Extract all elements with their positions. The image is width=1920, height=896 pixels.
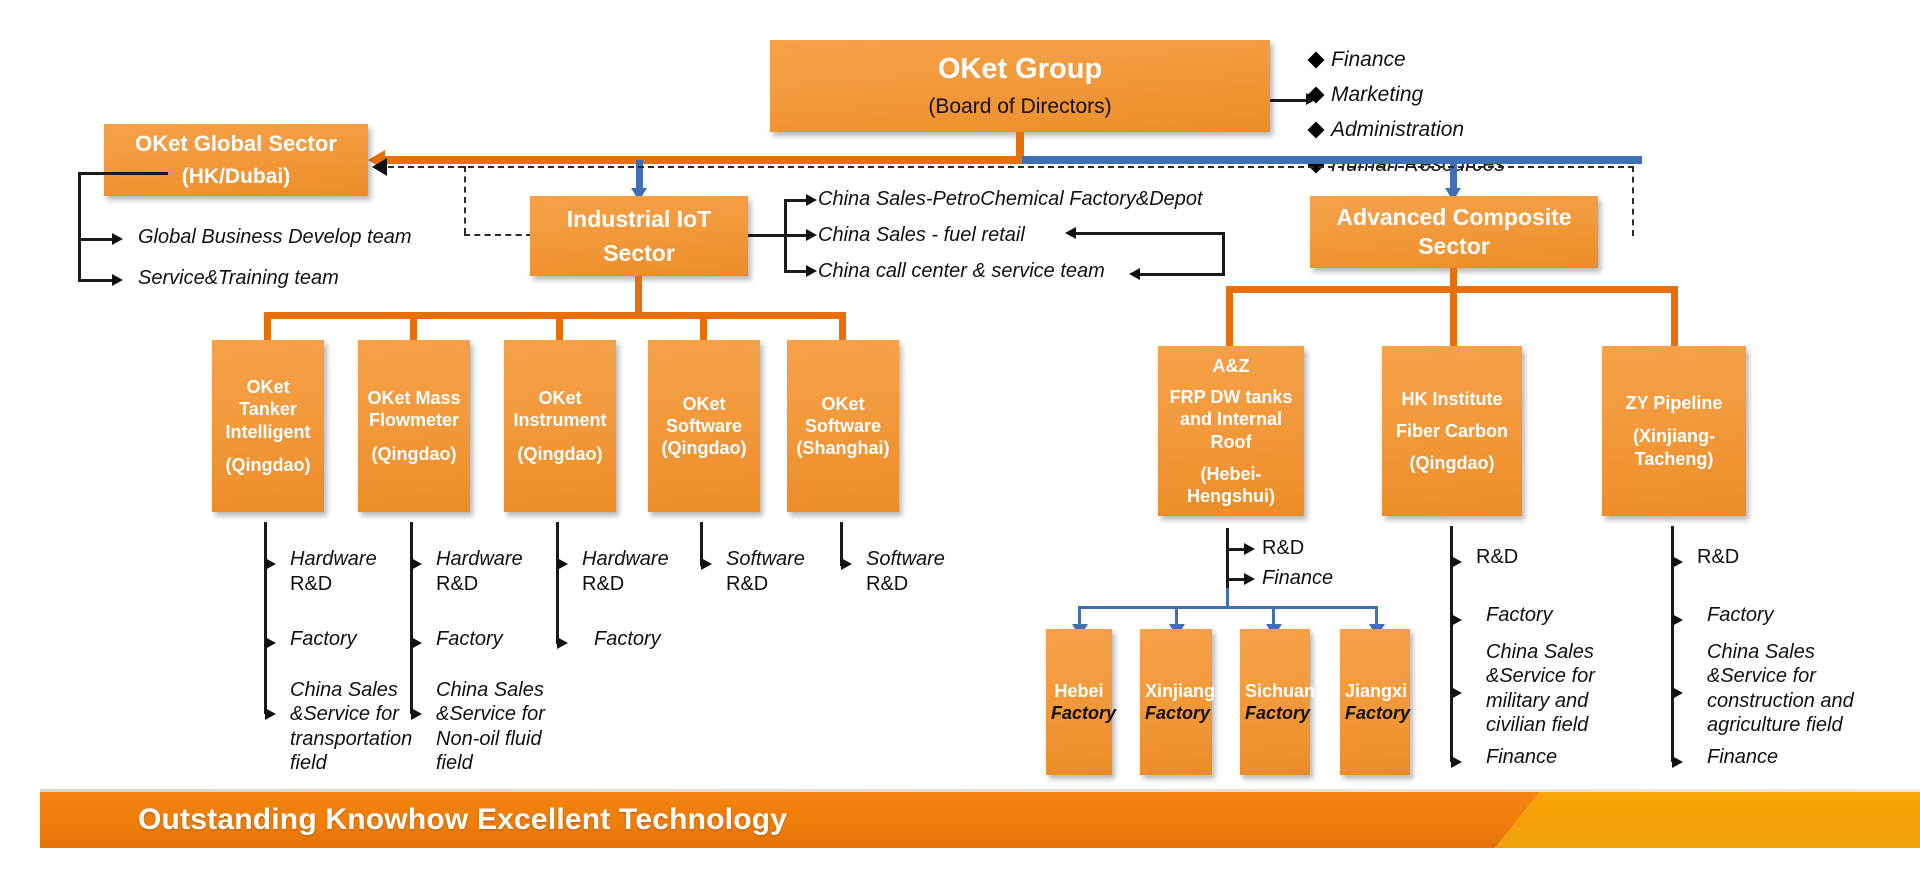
footer-banner: Outstanding Knowhow Excellent Technology xyxy=(40,792,1920,848)
node-title-line1: OKet xyxy=(792,393,894,415)
arrowhead-unit4-fn1 xyxy=(701,558,712,570)
factory-name: Jiangxi xyxy=(1345,680,1405,702)
node-oket-global-sector[interactable]: OKet Global Sector (HK/Dubai) xyxy=(104,124,368,196)
arrowhead-hk-fn1 xyxy=(1451,556,1462,568)
node-title-line2: Sector xyxy=(535,239,743,268)
node-az-frp-dw-tanks[interactable]: A&Z FRP DW tanks and Internal Roof (Hebe… xyxy=(1158,346,1304,516)
unit2-fn-factory: Factory xyxy=(436,628,503,651)
node-oket-software-qingdao[interactable]: OKet Software (Qingdao) xyxy=(648,340,760,512)
zy-fn-rd: R&D xyxy=(1697,546,1739,569)
node-location: (Qingdao) xyxy=(1387,452,1517,474)
node-oket-tanker-intelligent[interactable]: OKet Tanker Intelligent (Qingdao) xyxy=(212,340,324,512)
unit4-fn-rd: R&D xyxy=(726,573,768,596)
arrowhead-feedback-channel2 xyxy=(1065,227,1076,239)
hk-fn-rd: R&D xyxy=(1476,546,1518,569)
arrowhead-unit3-fn1 xyxy=(557,558,568,570)
node-location: (Qingdao) xyxy=(363,443,465,465)
node-location-line1: (Xinjiang- xyxy=(1607,425,1741,447)
org-chart-canvas: OKet Group (Board of Directors) Finance … xyxy=(0,0,1920,896)
connector-main-bus-blue xyxy=(1022,156,1642,164)
connector-channel-2 xyxy=(784,234,808,237)
node-xinjiang-factory[interactable]: Xinjiang Factory xyxy=(1140,629,1212,775)
zy-fn-finance: Finance xyxy=(1707,746,1778,769)
factory-name: Hebei xyxy=(1051,680,1107,702)
node-line2: and Internal xyxy=(1163,408,1299,430)
function-label: Administration xyxy=(1331,119,1464,140)
connector-channel-3 xyxy=(784,270,808,273)
connector-drop-5 xyxy=(839,312,846,340)
node-oket-mass-flowmeter[interactable]: OKet Mass Flowmeter (Qingdao) xyxy=(358,340,470,512)
arrowhead-unit1-fn1 xyxy=(265,558,276,570)
unit3-fn-hardware: Hardware xyxy=(582,548,669,571)
arrowhead-global-team2 xyxy=(112,274,123,286)
connector-bus-to-composite xyxy=(1450,160,1457,190)
unit4-fn-software: Software xyxy=(726,548,805,571)
az-fn-finance: Finance xyxy=(1262,567,1333,590)
node-hk-institute-fiber-carbon[interactable]: HK Institute Fiber Carbon (Qingdao) xyxy=(1382,346,1522,516)
node-title-line1: OKet xyxy=(509,387,611,409)
node-title: ZY Pipeline xyxy=(1607,392,1741,414)
arrowhead-channel-2 xyxy=(806,229,817,241)
list-item: Marketing xyxy=(1310,82,1505,107)
arrowhead-channel-1 xyxy=(806,194,817,206)
diamond-bullet-icon xyxy=(1308,51,1325,68)
unit5-fn-software: Software xyxy=(866,548,945,571)
unit2-fn-rd: R&D xyxy=(436,573,478,596)
zy-fn-factory: Factory xyxy=(1707,604,1774,627)
list-item: Administration xyxy=(1310,117,1505,142)
node-location: (Qingdao) xyxy=(509,443,611,465)
factory-kind: Factory xyxy=(1145,702,1207,724)
node-location: (Qingdao) xyxy=(217,454,319,476)
node-title-line1: Industrial IoT xyxy=(535,205,743,234)
arrowhead-hk-fn3 xyxy=(1451,687,1462,699)
arrowhead-az-fn2 xyxy=(1244,573,1255,585)
node-title-line1: OKet xyxy=(653,393,755,415)
node-line3: Roof xyxy=(1163,431,1299,453)
node-advanced-composite-sector[interactable]: Advanced Composite Sector xyxy=(1310,196,1598,268)
unit3-fn-factory: Factory xyxy=(594,628,661,651)
connector-composite-drop-2 xyxy=(1450,286,1457,346)
connector-drop-2 xyxy=(410,312,417,340)
connector-drop-1 xyxy=(264,312,271,340)
factory-name: Sichuan xyxy=(1245,680,1305,702)
unit5-fn-rd: R&D xyxy=(866,573,908,596)
node-location-line2: Tacheng) xyxy=(1607,448,1741,470)
factory-kind: Factory xyxy=(1245,702,1305,724)
connector-dashed-to-iot xyxy=(464,234,532,236)
connector-composite-drop-3 xyxy=(1671,286,1678,346)
node-title-line2: Instrument xyxy=(509,409,611,431)
global-team-label: Service&Training team xyxy=(138,267,339,290)
hk-fn-finance: Finance xyxy=(1486,746,1557,769)
node-location-line1: (Hebei- xyxy=(1163,463,1299,485)
unit1-fn-hardware: Hardware xyxy=(290,548,377,571)
arrowhead-unit5-fn1 xyxy=(841,558,852,570)
arrowhead-zy-fn4 xyxy=(1672,756,1683,768)
unit1-fn-factory: Factory xyxy=(290,628,357,651)
arrowhead-unit1-fn2 xyxy=(265,637,276,649)
connector-bus-to-iot xyxy=(636,160,643,190)
unit2-fn-hardware: Hardware xyxy=(436,548,523,571)
hk-fn-china-sales: China Sales &Service for military and ci… xyxy=(1486,640,1595,738)
arrowhead-zy-fn1 xyxy=(1672,556,1683,568)
banner-tagline: Outstanding Knowhow Excellent Technology xyxy=(138,792,787,848)
unit2-fn-china-sales: China Sales &Service for Non-oil fluid f… xyxy=(436,678,545,776)
connector-global-team2 xyxy=(78,279,114,282)
global-team-label: Global Business Develop team xyxy=(138,226,411,249)
iot-channel-label: China Sales - fuel retail xyxy=(818,224,1025,247)
banner-segment-accent xyxy=(1495,792,1920,848)
arrowhead-unit1-fn3 xyxy=(265,708,276,720)
function-label: Marketing xyxy=(1331,84,1423,105)
node-title-line1: HK Institute xyxy=(1387,388,1517,410)
arrowhead-feedback-channel3 xyxy=(1129,268,1140,280)
connector-root-to-functions xyxy=(1270,99,1308,102)
connector-iot-subsidiary-bus xyxy=(264,312,846,319)
unit1-fn-rd: R&D xyxy=(290,573,332,596)
connector-dashed-right-drop xyxy=(1632,166,1634,236)
connector-global-bracket-top xyxy=(78,172,168,175)
factory-kind: Factory xyxy=(1345,702,1405,724)
connector-iot-down xyxy=(635,276,642,316)
arrowhead-channel-3 xyxy=(806,265,817,277)
node-oket-software-shanghai[interactable]: OKet Software (Shanghai) xyxy=(787,340,899,512)
zy-fn-china-sales: China Sales &Service for construction an… xyxy=(1707,640,1854,738)
factory-kind: Factory xyxy=(1051,702,1107,724)
connector-unit3-spine xyxy=(556,522,559,644)
az-fn-rd: R&D xyxy=(1262,537,1304,560)
connector-factory-drop-1 xyxy=(1078,606,1081,626)
connector-drop-3 xyxy=(556,312,563,340)
unit3-fn-rd: R&D xyxy=(582,573,624,596)
connector-composite-feedback-vert xyxy=(1222,232,1225,276)
diamond-bullet-icon xyxy=(1308,86,1325,103)
connector-factory-drop-2 xyxy=(1175,606,1178,626)
node-location-line2: Hengshui) xyxy=(1163,485,1299,507)
arrowhead-zy-fn3 xyxy=(1672,687,1683,699)
node-title-line2: Sector xyxy=(1315,232,1593,261)
arrowhead-dashed-global xyxy=(372,158,387,176)
node-zy-pipeline[interactable]: ZY Pipeline (Xinjiang- Tacheng) xyxy=(1602,346,1746,516)
function-label: Finance xyxy=(1331,49,1406,70)
node-hebei-factory[interactable]: Hebei Factory xyxy=(1046,629,1112,775)
node-sichuan-factory[interactable]: Sichuan Factory xyxy=(1240,629,1310,775)
connector-channel-1 xyxy=(784,199,808,202)
node-location: (Shanghai) xyxy=(792,437,894,459)
node-title: OKet Group xyxy=(775,52,1265,88)
connector-global-bracket xyxy=(78,172,81,282)
connector-composite-drop-1 xyxy=(1226,286,1233,346)
arrowhead-hk-fn2 xyxy=(1451,614,1462,626)
node-line1: FRP DW tanks xyxy=(1163,386,1299,408)
connector-main-bus xyxy=(378,156,1024,164)
iot-channel-label: China call center & service team xyxy=(818,260,1105,283)
diamond-bullet-icon xyxy=(1308,121,1325,138)
connector-unit1-spine xyxy=(264,522,267,714)
node-title-line1: OKet Mass xyxy=(363,387,465,409)
node-title-line1: Advanced Composite xyxy=(1315,203,1593,232)
node-jiangxi-factory[interactable]: Jiangxi Factory xyxy=(1340,629,1410,775)
node-title-line2: Flowmeter xyxy=(363,409,465,431)
connector-factory-drop-3 xyxy=(1272,606,1275,626)
node-title-line2: Software xyxy=(792,415,894,437)
node-industrial-iot-sector[interactable]: Industrial IoT Sector xyxy=(530,196,748,276)
connector-iot-to-channels xyxy=(748,234,786,237)
list-item: Finance xyxy=(1310,47,1505,72)
connector-factories-down xyxy=(1226,588,1229,608)
node-title: A&Z xyxy=(1163,355,1299,377)
connector-global-team1 xyxy=(78,238,114,241)
factory-name: Xinjiang xyxy=(1145,680,1207,702)
arrowhead-az-fn1 xyxy=(1244,543,1255,555)
connector-dashed-feedback xyxy=(378,166,1634,168)
node-title-line2: Software xyxy=(653,415,755,437)
node-title-line1: OKet Tanker xyxy=(217,376,319,421)
unit1-fn-china-sales: China Sales &Service for transportation … xyxy=(290,678,412,776)
node-subtitle: (Board of Directors) xyxy=(775,94,1265,120)
connector-az-fn2 xyxy=(1226,578,1246,581)
connector-dashed-left-drop xyxy=(464,166,466,234)
node-oket-instrument[interactable]: OKet Instrument (Qingdao) xyxy=(504,340,616,512)
arrowhead-global-team1 xyxy=(112,233,123,245)
arrowhead-unit2-fn3 xyxy=(411,708,422,720)
connector-factories-bus xyxy=(1078,606,1378,609)
connector-feedback-to-channel3 xyxy=(1140,273,1225,276)
connector-unit2-spine xyxy=(410,522,413,714)
connector-feedback-to-channel2 xyxy=(1076,232,1224,235)
connector-az-fn1 xyxy=(1226,548,1246,551)
node-title: OKet Global Sector xyxy=(109,130,363,157)
arrowhead-zy-fn2 xyxy=(1672,614,1683,626)
hk-fn-factory: Factory xyxy=(1486,604,1553,627)
arrowhead-unit2-fn2 xyxy=(411,637,422,649)
node-title-line2: Intelligent xyxy=(217,421,319,443)
arrowhead-unit2-fn1 xyxy=(411,558,422,570)
arrowhead-hk-fn4 xyxy=(1451,756,1462,768)
arrowhead-unit3-fn2 xyxy=(557,637,568,649)
node-title-line2: Fiber Carbon xyxy=(1387,420,1517,442)
connector-drop-4 xyxy=(700,312,707,340)
iot-channel-label: China Sales-PetroChemical Factory&Depot xyxy=(818,188,1203,211)
connector-factory-drop-4 xyxy=(1375,606,1378,626)
node-subtitle: (HK/Dubai) xyxy=(109,164,363,190)
node-oket-group[interactable]: OKet Group (Board of Directors) xyxy=(770,40,1270,132)
node-location: (Qingdao) xyxy=(653,437,755,459)
